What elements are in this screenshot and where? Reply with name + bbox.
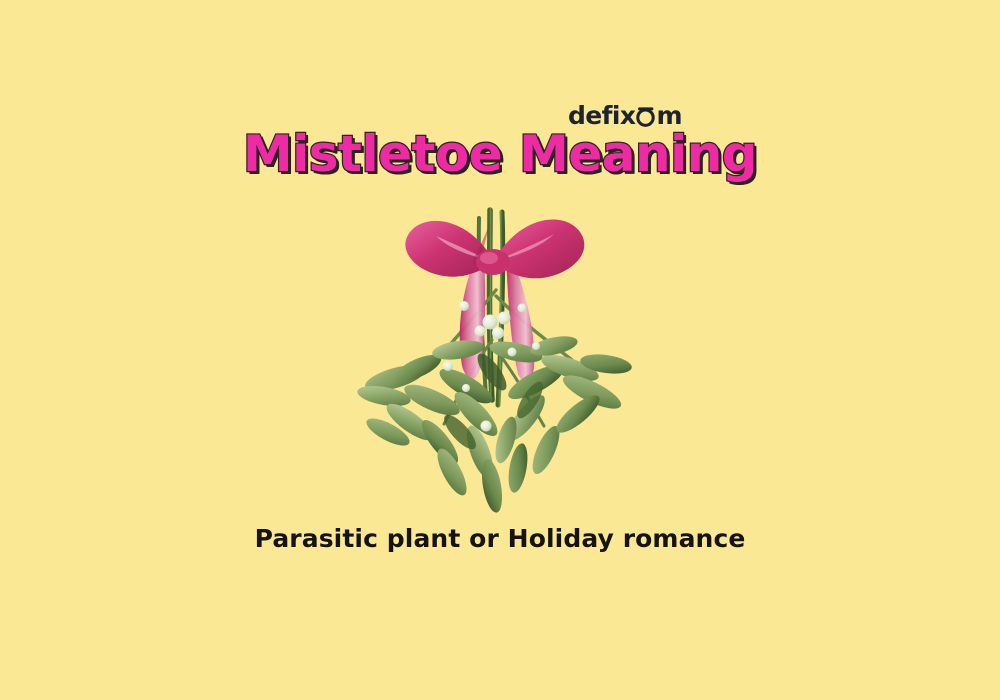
- title-container: Mistletoe Meaning: [0, 126, 1000, 182]
- page-subtitle: Parasitic plant or Holiday romance: [255, 524, 746, 554]
- ribbon-bow: [405, 219, 584, 278]
- mistletoe-leaves: [356, 333, 633, 514]
- subtitle-container: Parasitic plant or Holiday romance: [0, 524, 1000, 554]
- page-title: Mistletoe Meaning: [243, 126, 757, 182]
- mistletoe-illustration: [340, 200, 660, 530]
- brand-text-after-ring: m: [656, 103, 681, 128]
- brand-ring-o-icon: [635, 106, 656, 127]
- brand-text-before-ring: defix: [568, 103, 635, 128]
- poster-canvas: defix m Mistletoe Meaning: [0, 0, 1000, 700]
